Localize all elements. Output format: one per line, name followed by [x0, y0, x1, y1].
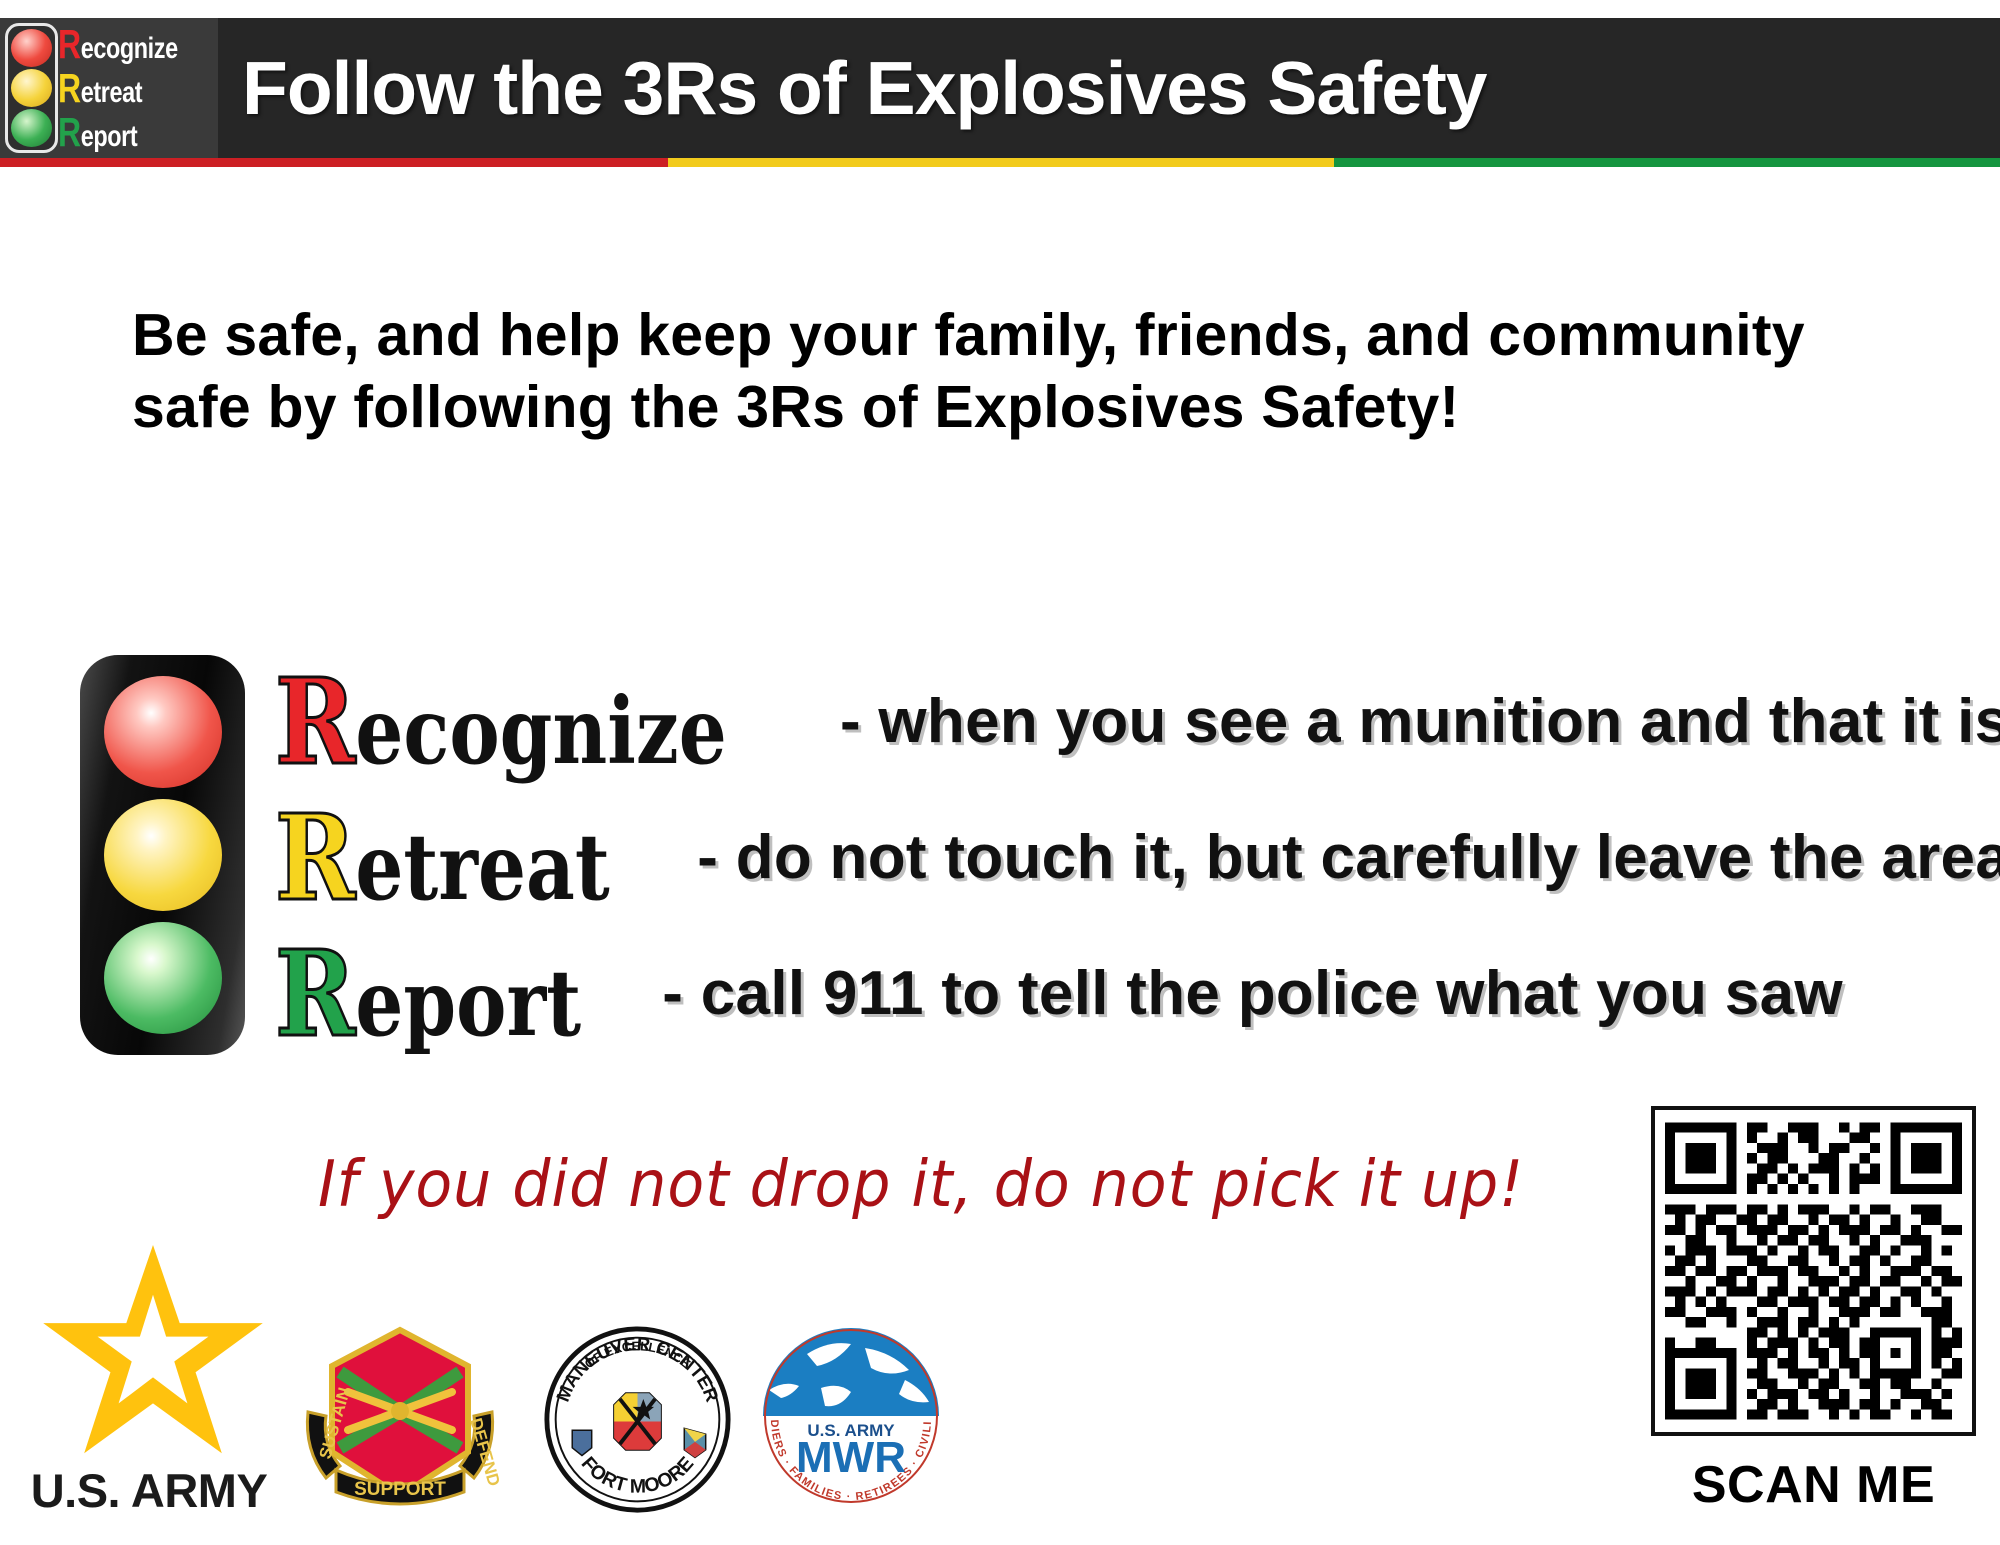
rule-word-recognize: Recognize	[275, 663, 730, 781]
tagline-text: If you did not drop it, do not pick it u…	[318, 1148, 1540, 1222]
header-3rs-logo: Recognize Retreat Report	[0, 18, 218, 158]
army-star-icon	[38, 1245, 268, 1460]
us-army-logo: U.S. ARMY	[18, 1245, 280, 1535]
rule-description-retreat: - do not touch it, but carefully leave t…	[697, 822, 2000, 893]
header-logo-words: Recognize Retreat Report	[58, 22, 218, 154]
header-logo-cap-r-red: R	[58, 21, 81, 67]
scan-me-label: SCAN ME	[1651, 1455, 1976, 1515]
rule-word-retreat: Retreat	[275, 799, 613, 917]
rule-word-report: Report	[275, 935, 584, 1053]
tricolor-divider	[0, 158, 2000, 167]
rule-row-recognize: Recognize - when you see a munition and …	[275, 655, 2000, 788]
header-logo-rest-report: eport	[81, 120, 138, 153]
stripe-segment-green	[1334, 158, 2000, 167]
three-rs-block: Recognize - when you see a munition and …	[80, 655, 1980, 1075]
traffic-light-icon	[80, 655, 245, 1055]
rule-word-rest-retreat: etreat	[355, 813, 609, 921]
rule-word-rest-report: eport	[355, 949, 581, 1057]
us-army-label: U.S. ARMY	[18, 1463, 280, 1518]
stripe-segment-yellow	[668, 158, 1334, 167]
traffic-light-yellow-bulb-icon	[104, 799, 222, 911]
qr-code-matrix	[1665, 1120, 1962, 1422]
red-light-icon	[11, 29, 52, 67]
green-light-icon	[11, 109, 52, 147]
rule-row-report: Report - call 911 to tell the police wha…	[275, 927, 1843, 1060]
header-logo-word-recognize: Recognize	[58, 24, 183, 65]
rule-word-rest-recognize: ecognize	[355, 677, 726, 785]
header-logo-word-retreat: Retreat	[58, 68, 183, 109]
rule-cap-letter-r-red: R	[275, 652, 355, 791]
stripe-segment-red	[0, 158, 668, 167]
fort-moore-seal-icon: MANEUVER CENTER OF EXCELLENCE FORT MOORE	[540, 1325, 735, 1515]
intro-line-2: safe by following the 3Rs of Explosives …	[132, 372, 1962, 444]
army-mwr-icon: SOLDIERS · FAMILIES · RETIREES · CIVILIA…	[755, 1320, 947, 1512]
traffic-light-red-bulb-icon	[104, 676, 222, 788]
imcom-support-label: SUPPORT	[354, 1479, 446, 1500]
header-logo-rest-retreat: etreat	[81, 76, 142, 109]
mwr-main-label: MWR	[796, 1433, 906, 1482]
header-banner: Recognize Retreat Report Follow the 3Rs …	[0, 18, 2000, 158]
header-logo-word-report: Report	[58, 112, 183, 153]
intro-text: Be safe, and help keep your family, frie…	[132, 300, 1962, 444]
imcom-crest-icon: SUSTAIN DEFEND SUPPORT	[300, 1320, 500, 1515]
rule-cap-letter-r-yellow: R	[275, 788, 355, 927]
rule-row-retreat: Retreat - do not touch it, but carefully…	[275, 791, 2000, 924]
header-logo-rest-recognize: ecognize	[81, 32, 178, 65]
rule-description-report: - call 911 to tell the police what you s…	[662, 958, 1843, 1029]
qr-code-icon[interactable]	[1651, 1106, 1976, 1436]
header-logo-cap-r-yellow: R	[58, 65, 81, 111]
header-logo-cap-r-green: R	[58, 109, 81, 155]
rule-cap-letter-r-green: R	[275, 924, 355, 1063]
page-title: Follow the 3Rs of Explosives Safety	[218, 45, 1487, 131]
intro-line-1: Be safe, and help keep your family, frie…	[132, 300, 1962, 372]
yellow-light-icon	[11, 69, 52, 107]
rule-description-recognize: - when you see a munition and that it is…	[840, 686, 2000, 757]
traffic-light-green-bulb-icon	[104, 922, 222, 1034]
header-traffic-light-icon	[5, 23, 58, 153]
